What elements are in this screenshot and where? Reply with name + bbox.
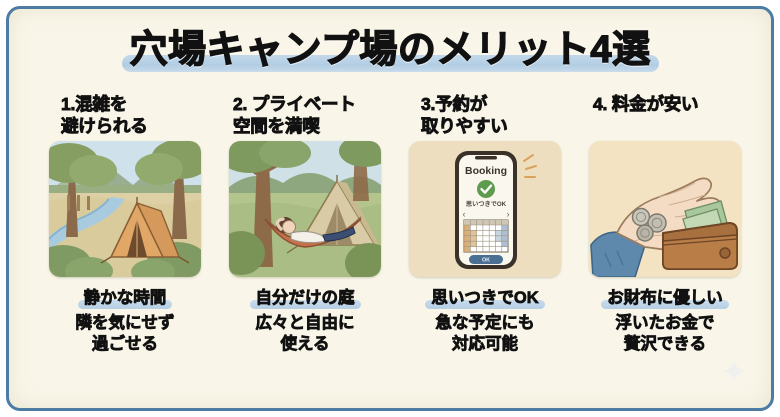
svg-text:思いつきでOK: 思いつきでOK [466, 200, 507, 208]
benefit-caption-sub-3-line2: 対応可能 [399, 334, 571, 355]
svg-text:‹: ‹ [463, 209, 466, 219]
benefit-caption-3: 思いつきでOK 急な予定にも 対応可能 [399, 288, 571, 355]
hand-coins-wallet-illustration [589, 141, 741, 277]
benefit-caption-2: 自分だけの庭 広々と自由に 使える [219, 288, 391, 355]
benefit-caption-main-3: 思いつきでOK [425, 288, 544, 309]
hammock-bell-tent-illustration [229, 141, 381, 277]
benefit-caption-sub-1: 隣を気にせず 過ごせる [39, 313, 211, 355]
benefit-column-2: 2. プライベート 空間を満喫 [215, 93, 395, 400]
page-title: 穴場キャンプ場のメリット4選 [9, 27, 771, 79]
benefit-caption-sub-3-line1: 急な予定にも [399, 313, 571, 334]
benefit-caption-sub-4: 浮いたお金で 贅沢できる [579, 313, 751, 355]
benefit-column-3: 3.予約が 取りやすい Booking [395, 93, 575, 400]
benefit-caption-main-2: 自分だけの庭 [250, 288, 361, 309]
benefit-caption-1: 静かな時間 隣を気にせず 過ごせる [39, 288, 211, 355]
benefit-heading-3-line1: 3.予約が [421, 93, 571, 115]
title-text-block: 穴場キャンプ場のメリット4選 [122, 27, 659, 73]
svg-text:›: › [507, 209, 510, 219]
benefit-heading-3: 3.予約が 取りやすい [399, 93, 571, 141]
benefit-heading-3-line2: 取りやすい [421, 115, 571, 137]
benefit-caption-sub-2-line2: 使える [219, 334, 391, 355]
benefit-heading-2-line1: 2. プライベート [233, 93, 391, 115]
benefit-caption-main-label-1: 静かな時間 [84, 289, 167, 307]
benefit-caption-main-4: お財布に優しい [601, 288, 729, 309]
svg-text:OK: OK [482, 258, 490, 264]
infographic-card: 穴場キャンプ場のメリット4選 1.混雑を 避けられる [6, 6, 774, 411]
benefit-column-1: 1.混雑を 避けられる [35, 93, 215, 400]
benefit-heading-4-line1: 4. 料金が安い [593, 93, 751, 115]
svg-text:Booking: Booking [465, 165, 507, 177]
benefit-columns: 1.混雑を 避けられる [35, 93, 755, 400]
benefit-caption-sub-3: 急な予定にも 対応可能 [399, 313, 571, 355]
benefit-heading-2-line2: 空間を満喫 [233, 115, 391, 137]
benefit-caption-sub-1-line2: 過ごせる [39, 334, 211, 355]
benefit-caption-main-label-2: 自分だけの庭 [256, 289, 355, 307]
benefit-heading-2: 2. プライベート 空間を満喫 [219, 93, 391, 141]
benefit-caption-sub-2-line1: 広々と自由に [219, 313, 391, 334]
benefit-caption-sub-1-line1: 隣を気にせず [39, 313, 211, 334]
benefit-caption-sub-4-line2: 贅沢できる [579, 334, 751, 355]
benefit-heading-1-line2: 避けられる [61, 115, 211, 137]
campsite-river-tent-illustration [49, 141, 201, 277]
benefit-caption-4: お財布に優しい 浮いたお金で 贅沢できる [579, 288, 751, 355]
smartphone-booking-calendar-illustration: Booking 思いつきでOK ‹ › [409, 141, 561, 277]
sparkle-icon [723, 360, 745, 382]
benefit-caption-sub-2: 広々と自由に 使える [219, 313, 391, 355]
benefit-caption-main-1: 静かな時間 [78, 288, 173, 309]
benefit-heading-4: 4. 料金が安い [579, 93, 751, 141]
title-label: 穴場キャンプ場のメリット4選 [130, 29, 651, 71]
benefit-heading-1-line1: 1.混雑を [61, 93, 211, 115]
benefit-caption-main-label-3: 思いつきでOK [431, 289, 538, 307]
benefit-caption-sub-4-line1: 浮いたお金で [579, 313, 751, 334]
benefit-column-4: 4. 料金が安い [575, 93, 755, 400]
benefit-heading-1: 1.混雑を 避けられる [39, 93, 211, 141]
benefit-caption-main-label-4: お財布に優しい [607, 289, 723, 307]
